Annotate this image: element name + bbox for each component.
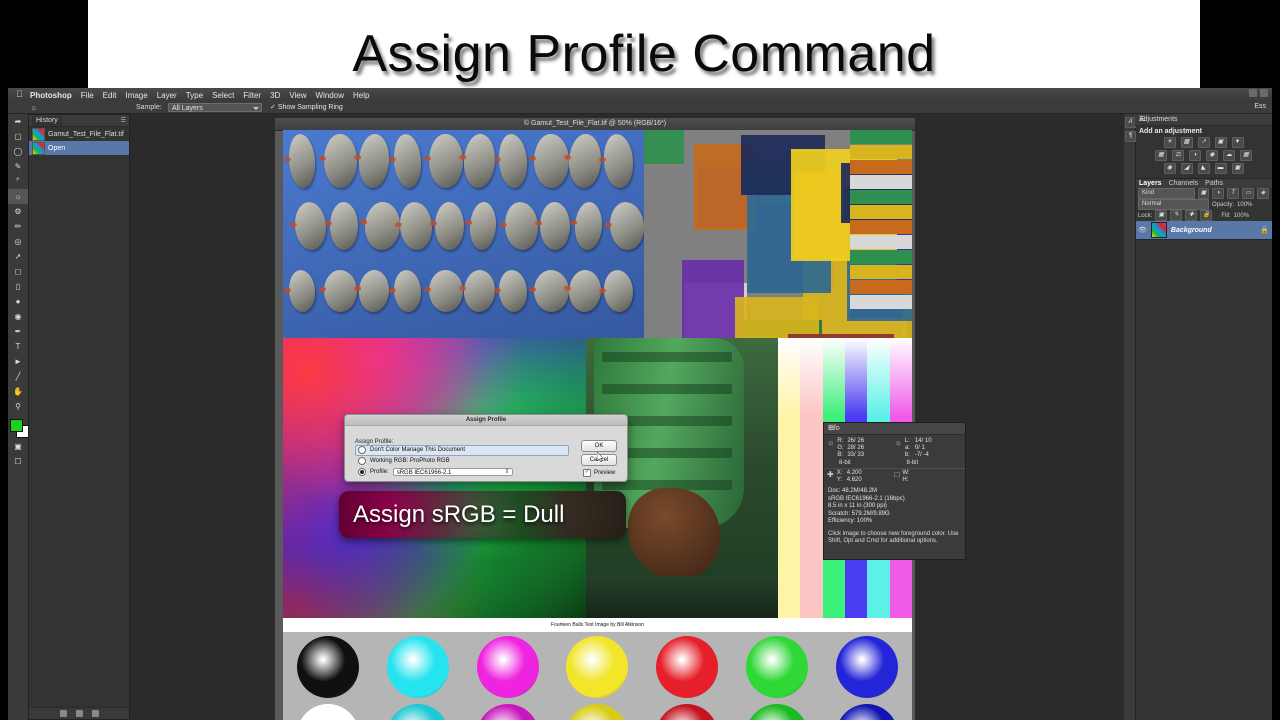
info-g-value: 28/ 26 <box>847 445 864 451</box>
fish-shape <box>567 133 603 189</box>
panel-menu-icon[interactable]: ☰ <box>1139 115 1269 125</box>
info-bit-right: 8-bit <box>895 460 963 466</box>
layer-name: Background <box>1171 227 1212 234</box>
fish-shape <box>573 201 603 251</box>
menu-item-view[interactable]: View <box>289 90 306 101</box>
info-rgb-column: ☼ R:26/ 26 G:28/ 26 B:33/ 33 <box>827 438 895 459</box>
tab-layers[interactable]: Layers <box>1139 180 1162 187</box>
fill-label: Fill: <box>1221 213 1230 219</box>
info-a-label: a: <box>905 445 915 452</box>
quick-select-tool[interactable]: ✎ <box>8 159 28 174</box>
blanket-stack-row <box>850 190 912 204</box>
history-item-label: Open <box>48 145 65 152</box>
menu-item-filter[interactable]: Filter <box>243 90 261 101</box>
info-xy-values: X:4.200 Y:4.620 <box>837 470 862 484</box>
mouse-cursor-icon <box>597 452 604 462</box>
channel-mixer-icon[interactable]: ☁ <box>1223 150 1235 161</box>
balls-row-2 <box>283 704 912 720</box>
tab-paths[interactable]: Paths <box>1205 180 1223 187</box>
info-xy-column: ✚ X:4.200 Y:4.620 <box>827 470 895 484</box>
test-ball <box>566 704 628 720</box>
info-r-value: 26/ 26 <box>847 438 864 444</box>
info-wh-values: W: H: <box>902 470 912 484</box>
history-panel-header: History ☰ <box>29 115 129 127</box>
fish-shape <box>435 202 464 250</box>
adjustment-filter-icon[interactable]: ◑ <box>1212 188 1224 199</box>
crosshair-icon: ✚ <box>827 470 834 484</box>
info-document-stats: Doc: 48.2M/48.2M sRGB IEC61966-2.1 (16bp… <box>824 485 965 529</box>
invert-icon[interactable]: ◉ <box>1164 163 1176 174</box>
blur-tool[interactable]: ● <box>8 294 28 309</box>
fish-shape <box>462 133 497 189</box>
black-white-icon[interactable]: ◑ <box>1189 150 1201 161</box>
sample-select[interactable]: All Layers <box>168 103 262 112</box>
profile-select[interactable]: sRGB IEC61966-2.1 <box>393 468 513 476</box>
blend-mode-select[interactable]: Normal <box>1138 199 1209 210</box>
info-x-label: X: <box>837 470 847 477</box>
preview-checkbox[interactable]: ✓ Preview <box>583 469 615 477</box>
info-b-value: 33/ 33 <box>847 452 864 458</box>
pen-tool[interactable]: ✒ <box>8 324 28 339</box>
clone-stamp-tool[interactable]: ◎ <box>8 234 28 249</box>
info-lab-b-label: b: <box>905 452 915 459</box>
sample-label: Sample: <box>136 103 162 112</box>
workspace-switcher[interactable]: Ess <box>1254 103 1266 110</box>
lock-row: Lock: ▣ ✎ ✚ 🔒 Fill: 100% <box>1135 210 1272 221</box>
color-bar <box>800 338 822 618</box>
image-top-half <box>283 130 912 338</box>
blanket-stack-row <box>850 175 912 189</box>
exposure-icon[interactable]: ▣ <box>1215 137 1227 148</box>
adjustment-icon-grid: ☀ ▩ ↗ ▣ ▼ ▦ ⚖ ◑ ◉ ☁ ▦ ◉ <box>1135 136 1272 178</box>
photo-filter-icon[interactable]: ◉ <box>1206 150 1218 161</box>
menu-items: Photoshop File Edit Image Layer Type Sel… <box>30 89 369 101</box>
blanket-stack-row <box>850 295 912 309</box>
info-g-label: G: <box>837 445 847 452</box>
fish-photo <box>283 130 644 338</box>
delete-icon[interactable] <box>92 710 99 717</box>
info-lab-b-value: -7/ -4 <box>915 452 929 458</box>
panel-menu-icon[interactable]: ☰ <box>121 117 126 124</box>
history-item-open[interactable]: Open <box>29 141 129 155</box>
blanket-stack-row <box>850 220 912 234</box>
new-snapshot-icon[interactable] <box>60 710 67 717</box>
color-swatches[interactable] <box>8 417 28 439</box>
info-y-label: Y: <box>837 477 847 484</box>
tools-panel: ➦ ▢ ◯ ✎ ⌜ ☼ ⚙ ✏ ◎ ➚ ◻ ▯ ● ◉ ✒ T ► ╱ ✋ ⚲ … <box>8 114 29 720</box>
blanket-stack-row <box>850 280 912 294</box>
eyedropper-icon: ☼ <box>827 438 834 459</box>
lock-position-icon[interactable]: ✚ <box>1185 210 1197 221</box>
menu-item-file[interactable]: File <box>81 90 94 101</box>
eye-icon[interactable]: 👁 <box>1138 226 1147 234</box>
option-profile[interactable]: Profile: sRGB IEC61966-2.1 <box>358 468 513 476</box>
adjustments-subtitle: Add an adjustment <box>1135 126 1272 136</box>
pixel-filter-icon[interactable]: ▣ <box>1198 188 1210 199</box>
menu-item-window[interactable]: Window <box>316 90 344 101</box>
option-working-rgb[interactable]: Working RGB: ProPhoto RGB <box>358 457 450 465</box>
brush-tool[interactable]: ✏ <box>8 219 28 234</box>
color-lookup-icon[interactable]: ▦ <box>1240 150 1252 161</box>
photoshop-window:  Photoshop File Edit Image Layer Type S… <box>8 88 1272 720</box>
eraser-tool[interactable]: ◻ <box>8 264 28 279</box>
fish-shape <box>429 270 463 312</box>
layers-panel-tabs: Layers Channels Paths <box>1135 179 1272 188</box>
menu-item-select[interactable]: Select <box>212 90 234 101</box>
fish-shape <box>503 201 539 251</box>
test-ball <box>746 636 808 698</box>
fish-shape <box>534 134 569 188</box>
fish-shape <box>603 269 635 313</box>
info-efficiency: Efficiency: 100% <box>828 518 961 526</box>
menu-item-layer[interactable]: Layer <box>157 90 177 101</box>
assign-profile-dialog: Assign Profile Assign Profile: Don't Col… <box>344 414 628 482</box>
move-tool[interactable]: ➦ <box>8 114 28 129</box>
smart-filter-icon[interactable]: ◈ <box>1257 188 1269 199</box>
info-y-value: 4.620 <box>847 477 862 483</box>
tab-channels[interactable]: Channels <box>1169 180 1199 187</box>
screenshot-root: Assign Profile Command  Photoshop File … <box>0 0 1280 720</box>
adjustment-row: ◉ ◢ ◣ ▬ ▣ <box>1164 163 1244 174</box>
foreground-color-swatch[interactable] <box>10 419 23 432</box>
blanket-stack-row <box>850 160 912 174</box>
radio-dont-color-manage[interactable] <box>358 446 366 454</box>
info-h-label: H: <box>902 477 912 484</box>
lock-image-icon[interactable]: ✎ <box>1170 210 1182 221</box>
levels-icon[interactable]: ▩ <box>1181 137 1193 148</box>
layer-kind-filter[interactable]: Kind <box>1138 188 1195 199</box>
test-ball <box>297 704 359 720</box>
lock-transparency-icon[interactable]: ▣ <box>1155 210 1167 221</box>
fish-shape <box>497 133 529 189</box>
fish-shape <box>602 133 635 189</box>
person-figure <box>628 488 720 580</box>
fish-shape <box>463 269 497 313</box>
wifi-icon <box>1260 89 1268 97</box>
fish-shape <box>324 270 357 312</box>
dialog-body: Assign Profile: Don't Color Manage This … <box>345 426 627 482</box>
fish-shape <box>288 269 317 313</box>
info-lab-column: ☼ L:14/ 10 a:0/ 1 b:-7/ -4 <box>895 438 963 459</box>
opacity-label: Opacity: <box>1212 202 1234 208</box>
tab-history[interactable]: History <box>32 116 62 126</box>
menu-item-edit[interactable]: Edit <box>103 90 117 101</box>
adjustment-row: ☀ ▩ ↗ ▣ ▼ <box>1164 137 1244 148</box>
fish-shape <box>358 269 391 313</box>
lock-label: Lock: <box>1138 213 1152 219</box>
balls-row-1 <box>283 636 912 698</box>
healing-brush-tool[interactable]: ⚙ <box>8 204 28 219</box>
info-dimensions: 8.5 in x 11 in (300 ppi) <box>828 503 961 511</box>
fish-shape <box>324 134 357 188</box>
layer-filter-row: Kind ▣ ◑ T ▭ ◈ <box>1135 188 1272 199</box>
marquee-icon: □ <box>895 470 900 484</box>
posterize-icon[interactable]: ◢ <box>1181 163 1193 174</box>
info-readouts: ☼ R:26/ 26 G:28/ 26 B:33/ 33 ☼ L:14/ 10 … <box>824 435 965 459</box>
info-lab-values: L:14/ 10 a:0/ 1 b:-7/ -4 <box>905 438 932 459</box>
info-a-value: 0/ 1 <box>915 445 925 451</box>
radio-working-rgb[interactable] <box>358 457 366 465</box>
quick-mask-tool[interactable]: ▣ <box>8 439 28 454</box>
show-sampling-ring-checkbox[interactable]: ✓ Show Sampling Ring <box>270 103 343 112</box>
menu-item-3d[interactable]: 3D <box>270 90 280 101</box>
color-bar <box>778 338 800 618</box>
info-wh-column: □ W: H: <box>895 470 963 484</box>
textile-photo <box>644 130 912 338</box>
fish-shape <box>392 133 423 189</box>
ok-button[interactable]: OK <box>581 440 617 452</box>
history-thumbnail <box>32 142 45 155</box>
info-r-label: R: <box>837 438 847 445</box>
option-dont-color-manage[interactable]: Don't Color Manage This Document <box>358 446 465 454</box>
fish-shape <box>398 201 433 251</box>
collapsed-panel-strip: A ¶ <box>1124 114 1136 720</box>
test-ball <box>656 636 718 698</box>
lock-all-icon[interactable]: 🔒 <box>1200 210 1212 221</box>
test-ball <box>566 636 628 698</box>
water-area <box>586 576 778 618</box>
blanket-stack-row <box>850 205 912 219</box>
eyedropper-icon[interactable]: ☼ <box>30 103 40 112</box>
option-profile-label: Profile: <box>370 469 389 475</box>
hand-tool[interactable]: ✋ <box>8 384 28 399</box>
options-bar: ☼ Sample: All Layers ✓ Show Sampling Rin… <box>8 101 1272 114</box>
menu-bar-status-icons <box>1249 89 1268 97</box>
fish-shape <box>498 269 529 313</box>
menu-item-help[interactable]: Help <box>353 90 369 101</box>
fourteen-balls <box>283 632 912 720</box>
type-tool[interactable]: T <box>8 339 28 354</box>
textile-patch <box>644 130 684 164</box>
gradient-map-icon[interactable]: ▬ <box>1215 163 1227 174</box>
fish-shape <box>468 201 497 251</box>
blanket-stack-row <box>850 235 912 249</box>
menu-bar:  Photoshop File Edit Image Layer Type S… <box>8 88 1272 102</box>
info-b-label: B: <box>837 452 847 459</box>
layers-panel: Layers Channels Paths Kind ▣ ◑ T ▭ ◈ Nor… <box>1135 179 1272 240</box>
crop-tool[interactable]: ⌜ <box>8 174 28 189</box>
test-ball <box>836 704 898 720</box>
dialog-title: Assign Profile <box>345 415 627 426</box>
panel-menu-icon[interactable]: ☰ <box>828 424 962 434</box>
test-ball <box>746 704 808 720</box>
screen-mode-tool[interactable]: ☐ <box>8 454 28 469</box>
type-filter-icon[interactable]: T <box>1227 188 1239 199</box>
info-bit-left: 8-bit <box>827 460 895 466</box>
caption-overlay: Assign sRGB = Dull <box>339 491 626 538</box>
test-ball <box>656 704 718 720</box>
fish-shape <box>534 270 569 312</box>
brightness-contrast-icon[interactable]: ☀ <box>1164 137 1176 148</box>
info-hint-text: Click image to choose new foreground col… <box>824 529 965 548</box>
color-balance-icon[interactable]: ⚖ <box>1172 150 1184 161</box>
shape-filter-icon[interactable]: ▭ <box>1242 188 1254 199</box>
fish-shape <box>357 133 391 189</box>
lasso-tool[interactable]: ◯ <box>8 144 28 159</box>
selective-color-icon[interactable]: ▣ <box>1232 163 1244 174</box>
opacity-value[interactable]: 100% <box>1237 202 1252 208</box>
hue-saturation-icon[interactable]: ▦ <box>1155 150 1167 161</box>
info-x-value: 4.200 <box>847 470 862 476</box>
layer-thumbnail <box>1151 222 1167 238</box>
layer-row-background[interactable]: 👁 Background 🔒 <box>1135 221 1272 239</box>
history-brush-tool[interactable]: ➚ <box>8 249 28 264</box>
gradient-tool[interactable]: ▯ <box>8 279 28 294</box>
adjustment-row: ▦ ⚖ ◑ ◉ ☁ ▦ <box>1155 150 1252 161</box>
page-title: Assign Profile Command <box>88 24 1200 84</box>
adjustments-panel-header: Adjustments ☰ <box>1135 114 1272 126</box>
test-ball <box>387 704 449 720</box>
boat-plank <box>602 384 732 394</box>
test-ball <box>387 636 449 698</box>
boat-plank <box>602 352 732 362</box>
fish-shape <box>293 201 327 251</box>
info-coordinates-row: ✚ X:4.200 Y:4.620 □ W: H: <box>824 468 965 485</box>
blanket-stack-row <box>850 265 912 279</box>
preview-checkbox-box[interactable]: ✓ <box>583 469 591 477</box>
new-document-icon[interactable] <box>76 710 83 717</box>
preview-label: Preview <box>594 470 615 476</box>
history-panel: History ☰ Gamut_Test_File_Flat.tif Open <box>28 114 130 720</box>
eyedropper-icon: ☼ <box>895 438 902 459</box>
eyedropper-tool[interactable]: ☼ <box>8 189 28 204</box>
test-ball <box>477 636 539 698</box>
lock-icon: 🔒 <box>1260 226 1269 234</box>
info-panel: Info ☰ ☼ R:26/ 26 G:28/ 26 B:33/ 33 ☼ L:… <box>823 422 966 560</box>
caption-text: Assign sRGB = Dull <box>339 491 626 538</box>
info-l-value: 14/ 10 <box>915 438 932 444</box>
path-select-tool[interactable]: ► <box>8 354 28 369</box>
battery-icon <box>1249 89 1257 97</box>
zoom-tool[interactable]: ⚲ <box>8 399 28 414</box>
info-scratch: Scratch: 579.2M/9.89G <box>828 511 961 519</box>
radio-profile[interactable] <box>358 468 366 476</box>
blanket-stack-row <box>850 130 912 144</box>
info-profile: sRGB IEC61966-2.1 (16bpc) <box>828 496 961 504</box>
fill-value[interactable]: 100% <box>1234 213 1249 219</box>
threshold-icon[interactable]: ◣ <box>1198 163 1210 174</box>
history-thumbnail <box>32 128 45 141</box>
menu-item-image[interactable]: Image <box>125 90 147 101</box>
option-working-rgb-label: Working RGB: ProPhoto RGB <box>370 458 450 464</box>
blanket-stack-row <box>850 145 912 159</box>
shape-tool[interactable]: ╱ <box>8 369 28 384</box>
fish-shape <box>540 202 570 250</box>
fish-shape <box>287 133 317 189</box>
image-caption: Fourteen Balls Test Image by Bill Atkins… <box>283 618 912 632</box>
test-ball <box>836 636 898 698</box>
apple-logo-icon[interactable]:  <box>16 90 25 99</box>
fish-shape <box>429 134 463 188</box>
menu-item-photoshop[interactable]: Photoshop <box>30 90 72 101</box>
fish-shape <box>330 202 358 250</box>
marquee-tool[interactable]: ▢ <box>8 129 28 144</box>
paragraph-panel-icon[interactable]: ¶ <box>1125 131 1136 142</box>
vibrance-icon[interactable]: ▼ <box>1232 137 1244 148</box>
test-ball <box>297 636 359 698</box>
dodge-tool[interactable]: ◉ <box>8 309 28 324</box>
textile-patch <box>735 297 819 338</box>
fish-shape <box>608 201 644 251</box>
right-dock: A ¶ Adjustments ☰ Add an adjustment ☀ ▩ … <box>1134 114 1272 720</box>
curves-icon[interactable]: ↗ <box>1198 137 1210 148</box>
info-w-label: W: <box>902 470 912 477</box>
test-ball <box>477 704 539 720</box>
blanket-stack-row <box>850 250 912 264</box>
info-doc-size: Doc: 48.2M/48.2M <box>828 488 961 496</box>
history-item-source[interactable]: Gamut_Test_File_Flat.tif <box>29 127 129 141</box>
blend-mode-row: Normal Opacity: 100% <box>1135 199 1272 210</box>
fish-shape <box>393 269 423 313</box>
info-l-label: L: <box>905 438 915 445</box>
history-item-label: Gamut_Test_File_Flat.tif <box>48 131 124 138</box>
info-bitdepth-row: 8-bit 8-bit <box>824 459 965 468</box>
adjustments-panel: Adjustments ☰ Add an adjustment ☀ ▩ ↗ ▣ … <box>1135 114 1272 179</box>
history-panel-footer <box>29 707 129 719</box>
show-sampling-ring-label: Show Sampling Ring <box>278 104 343 111</box>
info-rgb-values: R:26/ 26 G:28/ 26 B:33/ 33 <box>837 438 864 459</box>
menu-item-type[interactable]: Type <box>186 90 203 101</box>
option-dont-color-manage-label: Don't Color Manage This Document <box>370 447 465 453</box>
fish-shape <box>568 269 603 313</box>
info-panel-header: Info ☰ <box>824 423 965 435</box>
